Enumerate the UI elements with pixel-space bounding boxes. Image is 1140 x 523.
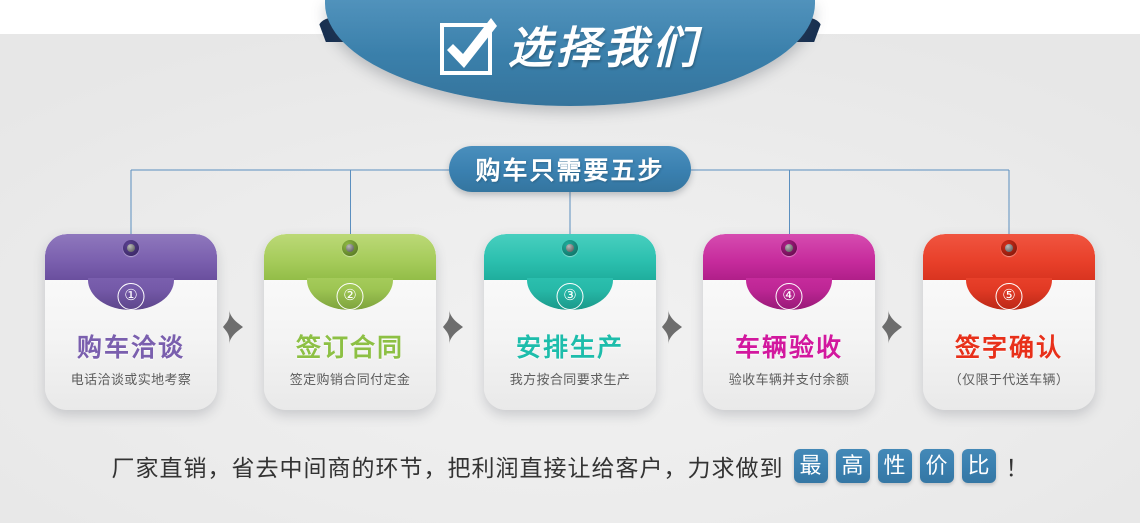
step-subtitle: 电话洽谈或实地考察 [45, 369, 217, 388]
steps-row: ① 购车洽谈 电话洽谈或实地考察 ② 签订合同 签定购销合同付定金 ③ 安排生产… [0, 234, 1140, 414]
highlight-char: 价 [920, 449, 954, 483]
step-title: 安排生产 [484, 328, 656, 364]
step-card-grommet [562, 240, 578, 256]
step-card-grommet [1001, 240, 1017, 256]
tagline-exclamation: ！ [1006, 449, 1029, 483]
tagline-highlights: 最 高 性 价 比 [794, 449, 996, 483]
step-number: ⑤ [996, 283, 1023, 310]
step-count-pill: 购车只需要五步 [449, 146, 691, 192]
step-card-5[interactable]: ⑤ 签字确认 （仅限于代送车辆） [923, 234, 1095, 410]
highlight-char: 高 [836, 449, 870, 483]
arrow-right-icon-4 [881, 310, 903, 344]
step-card-1[interactable]: ① 购车洽谈 电话洽谈或实地考察 [45, 234, 217, 410]
step-card-grommet [781, 240, 797, 256]
step-title: 签订合同 [264, 328, 436, 364]
promo-banner-page: 选择我们 购车只需要五步 ① 购车洽谈 电话洽谈或实地考察 [0, 0, 1140, 523]
step-title: 签字确认 [923, 328, 1095, 364]
tagline: 厂家直销，省去中间商的环节，把利润直接让给客户，力求做到 最 高 性 价 比 ！ [0, 440, 1140, 492]
highlight-char: 性 [878, 449, 912, 483]
step-card-4[interactable]: ④ 车辆验收 验收车辆并支付余额 [703, 234, 875, 410]
tagline-text: 厂家直销，省去中间商的环节，把利润直接让给客户，力求做到 [112, 449, 784, 483]
highlight-char: 比 [962, 449, 996, 483]
step-subtitle: 验收车辆并支付余额 [703, 369, 875, 388]
arrow-right-icon-3 [661, 310, 683, 344]
arrow-right-icon-1 [222, 310, 244, 344]
highlight-char: 最 [794, 449, 828, 483]
step-number: ④ [776, 283, 803, 310]
step-subtitle: （仅限于代送车辆） [923, 369, 1095, 388]
step-card-2[interactable]: ② 签订合同 签定购销合同付定金 [264, 234, 436, 410]
step-card-grommet [342, 240, 358, 256]
step-title: 购车洽谈 [45, 328, 217, 364]
step-number: ③ [557, 283, 584, 310]
step-count-label: 购车只需要五步 [475, 151, 664, 187]
step-number: ① [118, 283, 145, 310]
step-card-grommet [123, 240, 139, 256]
step-number: ② [337, 283, 364, 310]
arrow-right-icon-2 [442, 310, 464, 344]
step-card-3[interactable]: ③ 安排生产 我方按合同要求生产 [484, 234, 656, 410]
step-subtitle: 我方按合同要求生产 [484, 369, 656, 388]
step-title: 车辆验收 [703, 328, 875, 364]
step-subtitle: 签定购销合同付定金 [264, 369, 436, 388]
